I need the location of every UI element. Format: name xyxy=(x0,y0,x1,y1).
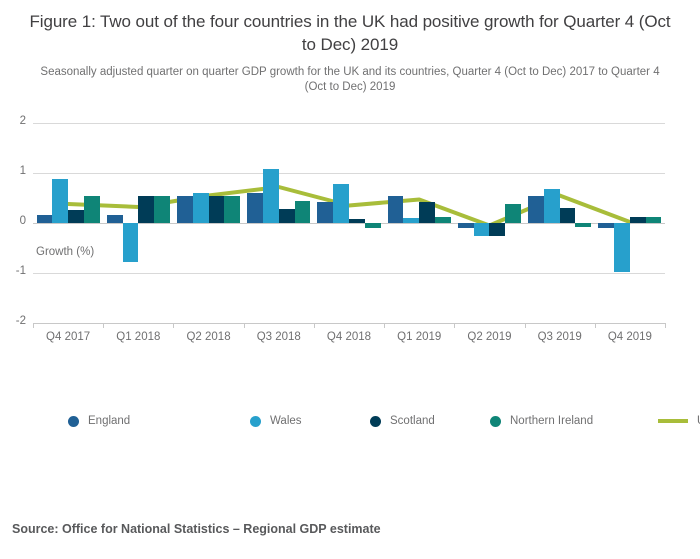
chart-area: Growth (%) 210-1-2 Q4 2017Q1 2018Q2 2018… xyxy=(0,111,700,361)
gridline-2 xyxy=(33,123,665,124)
legend-item-uk[interactable]: UK xyxy=(658,415,700,427)
x-tick-label-q3-2019: Q3 2019 xyxy=(525,331,595,343)
x-axis-tick xyxy=(454,323,455,328)
bar-wales-q3-2019 xyxy=(544,189,560,223)
legend-item-england[interactable]: England xyxy=(68,415,130,427)
x-axis-tick xyxy=(665,323,666,328)
bar-northern-ireland-q3-2019 xyxy=(575,223,591,227)
bar-england-q2-2019 xyxy=(458,223,474,228)
bar-northern-ireland-q2-2018 xyxy=(224,196,240,224)
bar-wales-q1-2018 xyxy=(123,223,139,262)
bar-wales-q2-2018 xyxy=(193,193,209,223)
x-axis-line xyxy=(33,323,665,324)
legend-dot-icon xyxy=(490,416,501,427)
bar-england-q4-2019 xyxy=(598,223,614,228)
x-tick-label-q4-2019: Q4 2019 xyxy=(595,331,665,343)
bar-northern-ireland-q4-2019 xyxy=(646,217,662,223)
legend-line-icon xyxy=(658,419,688,423)
page-title: Figure 1: Two out of the four countries … xyxy=(22,10,678,56)
bar-scotland-q3-2018 xyxy=(279,209,295,223)
x-tick-label-q1-2019: Q1 2019 xyxy=(384,331,454,343)
bar-northern-ireland-q4-2018 xyxy=(365,223,381,228)
legend-dot-icon xyxy=(370,416,381,427)
legend-item-scotland[interactable]: Scotland xyxy=(370,415,435,427)
legend-label: Northern Ireland xyxy=(510,415,593,427)
x-axis-tick xyxy=(525,323,526,328)
plot-region xyxy=(33,123,665,323)
bar-scotland-q4-2018 xyxy=(349,219,365,223)
bar-england-q1-2019 xyxy=(388,196,404,224)
legend-item-northern-ireland[interactable]: Northern Ireland xyxy=(490,415,593,427)
legend-dot-icon xyxy=(68,416,79,427)
bar-scotland-q4-2017 xyxy=(68,210,84,224)
bar-northern-ireland-q2-2019 xyxy=(505,204,521,223)
x-axis-tick xyxy=(244,323,245,328)
bar-wales-q4-2018 xyxy=(333,184,349,223)
x-tick-label-q3-2018: Q3 2018 xyxy=(244,331,314,343)
legend-dot-icon xyxy=(250,416,261,427)
chart-legend: EnglandWalesScotlandNorthern IrelandUK xyxy=(60,415,680,439)
bar-wales-q2-2019 xyxy=(474,223,490,236)
bar-england-q2-2018 xyxy=(177,196,193,224)
x-axis-tick xyxy=(384,323,385,328)
bar-scotland-q1-2019 xyxy=(419,202,435,223)
bar-northern-ireland-q4-2017 xyxy=(84,196,100,224)
y-tick-label: -2 xyxy=(2,315,26,327)
bar-wales-q4-2017 xyxy=(52,179,68,223)
x-axis-tick xyxy=(33,323,34,328)
y-tick-label: 2 xyxy=(2,115,26,127)
bar-scotland-q2-2018 xyxy=(209,196,225,224)
legend-item-wales[interactable]: Wales xyxy=(250,415,302,427)
bar-england-q3-2018 xyxy=(247,193,263,223)
x-tick-label-q4-2018: Q4 2018 xyxy=(314,331,384,343)
bar-england-q1-2018 xyxy=(107,215,123,224)
bar-northern-ireland-q3-2018 xyxy=(295,201,311,224)
gridline--1 xyxy=(33,273,665,274)
figure-subtitle: Seasonally adjusted quarter on quarter G… xyxy=(36,65,664,95)
bar-scotland-q3-2019 xyxy=(560,208,576,223)
bar-northern-ireland-q1-2019 xyxy=(435,217,451,223)
bar-england-q4-2017 xyxy=(37,215,53,224)
y-tick-label: 0 xyxy=(2,215,26,227)
y-tick-label: 1 xyxy=(2,165,26,177)
bar-scotland-q2-2019 xyxy=(489,223,505,236)
figure-container: Figure 1: Two out of the four countries … xyxy=(0,10,700,559)
legend-label: Scotland xyxy=(390,415,435,427)
bar-northern-ireland-q1-2018 xyxy=(154,196,170,224)
x-tick-label-q4-2017: Q4 2017 xyxy=(33,331,103,343)
bar-scotland-q4-2019 xyxy=(630,217,646,223)
x-tick-label-q2-2018: Q2 2018 xyxy=(173,331,243,343)
legend-label: Wales xyxy=(270,415,302,427)
y-tick-label: -1 xyxy=(2,265,26,277)
x-tick-label-q2-2019: Q2 2019 xyxy=(454,331,524,343)
gridline-1 xyxy=(33,173,665,174)
x-axis-tick xyxy=(103,323,104,328)
bar-scotland-q1-2018 xyxy=(138,196,154,224)
bar-england-q3-2019 xyxy=(528,196,544,224)
bar-england-q4-2018 xyxy=(317,202,333,223)
x-axis-tick xyxy=(173,323,174,328)
bar-wales-q1-2019 xyxy=(403,218,419,223)
x-axis-tick xyxy=(595,323,596,328)
source-note: Source: Office for National Statistics –… xyxy=(12,522,381,536)
x-axis-tick xyxy=(314,323,315,328)
bar-wales-q3-2018 xyxy=(263,169,279,223)
x-tick-label-q1-2018: Q1 2018 xyxy=(103,331,173,343)
bar-wales-q4-2019 xyxy=(614,223,630,272)
legend-label: England xyxy=(88,415,130,427)
